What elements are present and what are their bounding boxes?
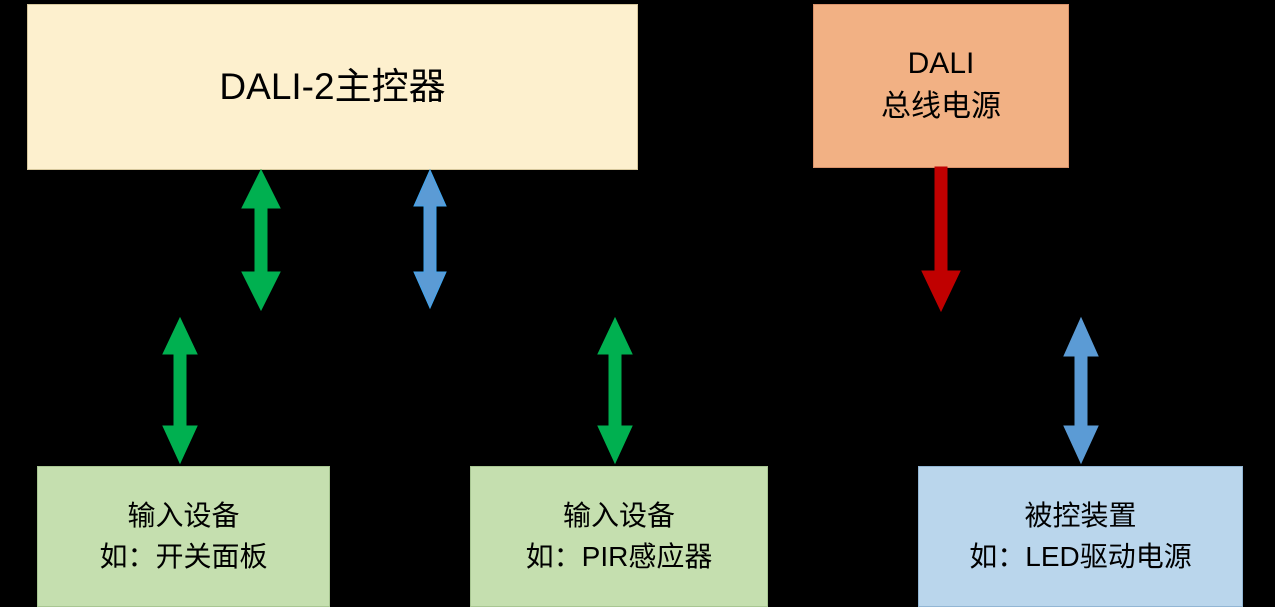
node-input-device-pir-sensor[interactable]: 输入设备 如：PIR感应器 [470,466,768,607]
node-controlled-gear-led-driver-label-line1: 被控装置 [1024,499,1136,533]
node-dali2-controller[interactable]: DALI-2主控器 [27,4,638,170]
node-input-device-switch-panel[interactable]: 输入设备 如：开关面板 [37,466,330,607]
node-input-device-switch-panel-label-line1: 输入设备 [127,499,239,533]
connector-controller-green-bidirectional-upper-icon [232,168,292,313]
node-dali-bus-power-supply-label-line1: DALI [908,46,975,83]
connector-switch-green-bidirectional-icon [153,316,209,466]
node-controlled-gear-led-driver[interactable]: 被控装置 如：LED驱动电源 [918,466,1243,607]
node-dali-bus-power-supply[interactable]: DALI 总线电源 [813,4,1069,168]
connector-power-red-down-icon [913,167,971,313]
node-input-device-pir-sensor-label-line1: 输入设备 [563,499,675,533]
connector-controller-blue-bidirectional-upper-icon [405,168,457,310]
node-input-device-switch-panel-label-line2: 如：开关面板 [99,540,267,574]
node-input-device-pir-sensor-label-line2: 如：PIR感应器 [526,540,713,574]
connector-gear-blue-bidirectional-icon [1053,316,1111,466]
node-controlled-gear-led-driver-label-line2: 如：LED驱动电源 [969,540,1191,574]
node-dali2-controller-label: DALI-2主控器 [219,64,445,109]
diagram-canvas: DALI-2主控器 DALI 总线电源 输入设备 如：开关面板 输入设备 如：P… [0,0,1275,607]
connector-pir-green-bidirectional-icon [588,316,644,466]
node-dali-bus-power-supply-label-line2: 总线电源 [881,89,1001,126]
